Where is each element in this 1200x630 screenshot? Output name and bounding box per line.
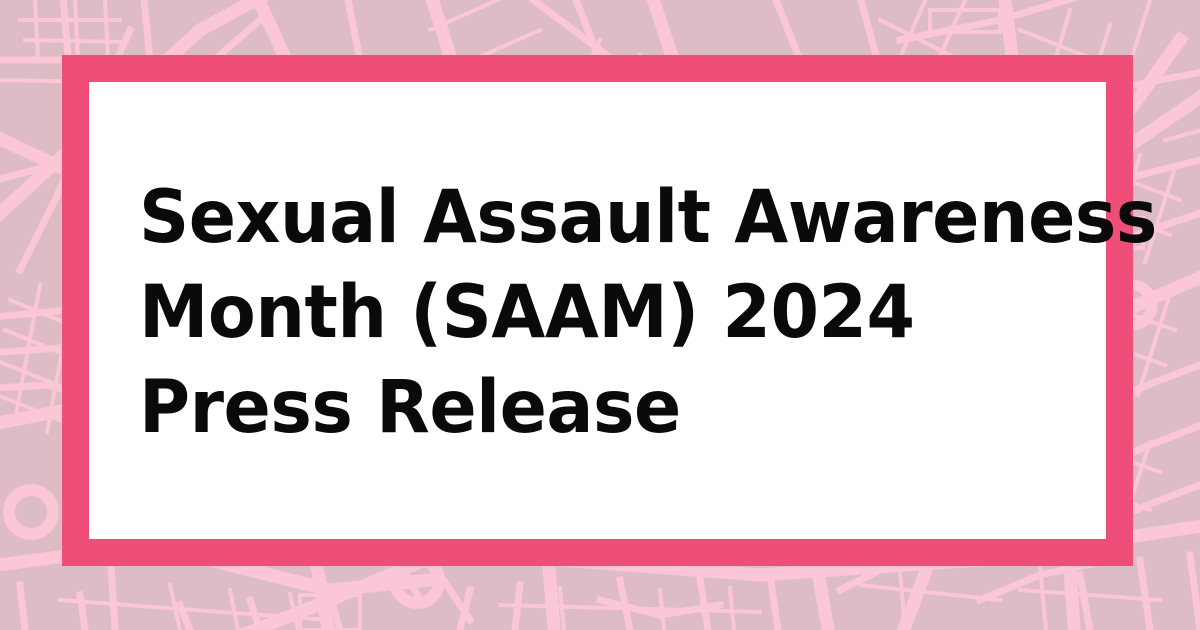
title-line-2: Month (SAAM) 2024	[139, 265, 1056, 360]
title-line-3: Press Release	[139, 360, 1056, 455]
press-release-banner: Sexual Assault Awareness Month (SAAM) 20…	[0, 0, 1200, 630]
pink-frame-border: Sexual Assault Awareness Month (SAAM) 20…	[62, 55, 1133, 566]
title-line-1: Sexual Assault Awareness	[139, 170, 1056, 265]
page-title: Sexual Assault Awareness Month (SAAM) 20…	[139, 170, 1099, 455]
white-card: Sexual Assault Awareness Month (SAAM) 20…	[89, 82, 1106, 539]
